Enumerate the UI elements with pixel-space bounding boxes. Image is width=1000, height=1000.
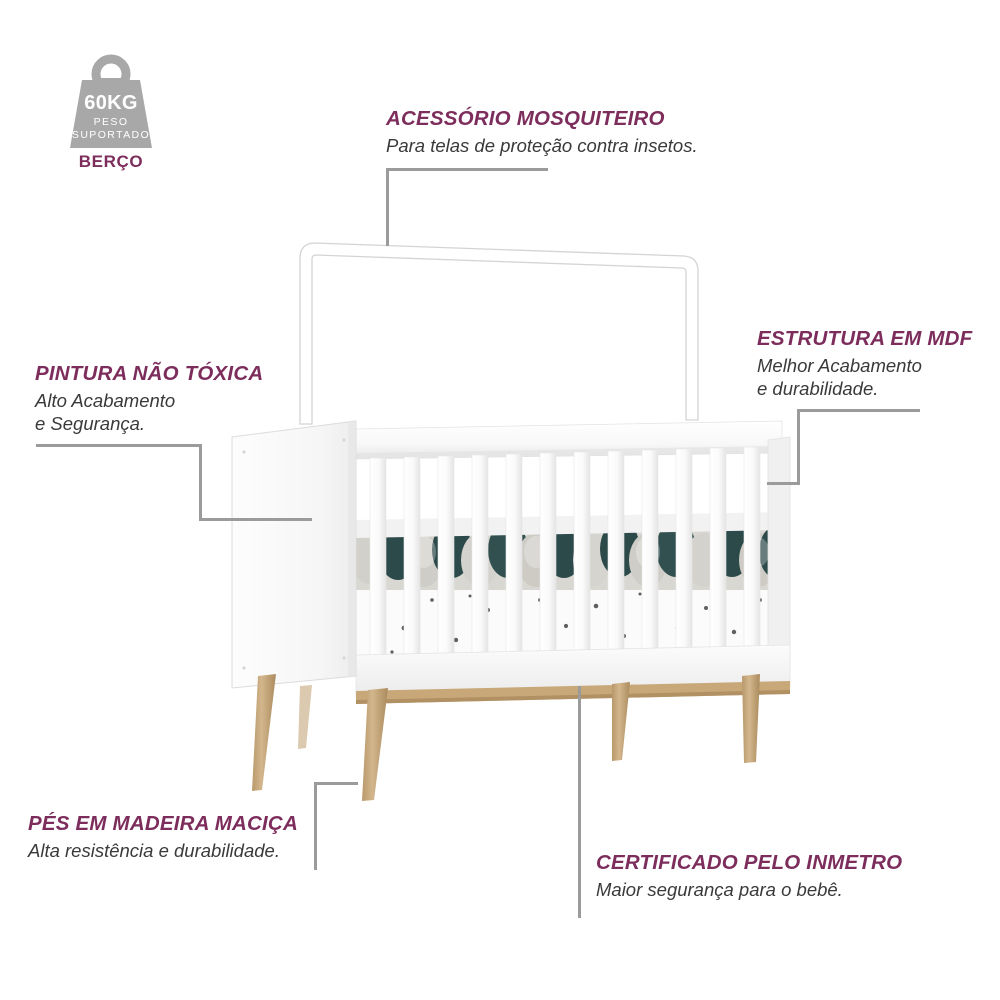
callout-pes-madeira-title: PÉS EM MADEIRA MACIÇA	[28, 812, 298, 836]
callout-mosquiteiro-title: ACESSÓRIO MOSQUITEIRO	[386, 107, 698, 131]
callout-estrutura-mdf-desc: Melhor Acabamento e durabilidade.	[757, 354, 972, 401]
leg-rear-mid	[612, 682, 630, 761]
leg-front-left	[252, 674, 276, 791]
callout-mosquiteiro-desc: Para telas de proteção contra insetos.	[386, 134, 698, 158]
leg-front-mid	[362, 688, 388, 801]
leader-line-mosquiteiro-h	[386, 168, 548, 171]
callout-pes-madeira-desc: Alta resistência e durabilidade.	[28, 839, 298, 863]
callout-estrutura-mdf: ESTRUTURA EM MDF Melhor Acabamento e dur…	[757, 327, 972, 401]
mosquito-net-frame	[300, 243, 698, 424]
leader-line-inmetro-v	[578, 686, 581, 918]
leg-far-right	[742, 674, 760, 763]
leader-line-mosquiteiro-v	[386, 168, 389, 246]
callout-estrutura-mdf-title: ESTRUTURA EM MDF	[757, 327, 972, 351]
leader-line-mdf-h-bottom	[767, 482, 800, 485]
leader-line-pintura-h-top	[36, 444, 202, 447]
callout-mosquiteiro: ACESSÓRIO MOSQUITEIRO Para telas de prot…	[386, 107, 698, 157]
callout-pintura-title: PINTURA NÃO TÓXICA	[35, 362, 263, 386]
callout-pes-madeira: PÉS EM MADEIRA MACIÇA Alta resistência e…	[28, 812, 298, 862]
callout-inmetro: CERTIFICADO PELO INMETRO Maior segurança…	[596, 851, 902, 901]
leader-line-pintura-v	[199, 444, 202, 520]
leader-line-mdf-v	[797, 409, 800, 485]
crib-end-panel	[232, 421, 356, 688]
callout-pintura: PINTURA NÃO TÓXICA Alto Acabamento e Seg…	[35, 362, 263, 436]
crib-bottom-rail	[356, 645, 790, 704]
callout-inmetro-title: CERTIFICADO PELO INMETRO	[596, 851, 902, 875]
crib-right-end-panel	[768, 437, 790, 676]
leader-line-mdf-h-top	[797, 409, 920, 412]
leader-line-pes-h	[314, 782, 358, 785]
callout-pintura-desc: Alto Acabamento e Segurança.	[35, 389, 263, 436]
leader-line-pes-v	[314, 782, 317, 870]
leader-line-pintura-h-bottom	[199, 518, 312, 521]
infographic-page: 60KG PESO SUPORTADO BERÇO	[0, 0, 1000, 1000]
leg-back-left	[298, 685, 312, 749]
callout-inmetro-desc: Maior segurança para o bebê.	[596, 878, 902, 902]
